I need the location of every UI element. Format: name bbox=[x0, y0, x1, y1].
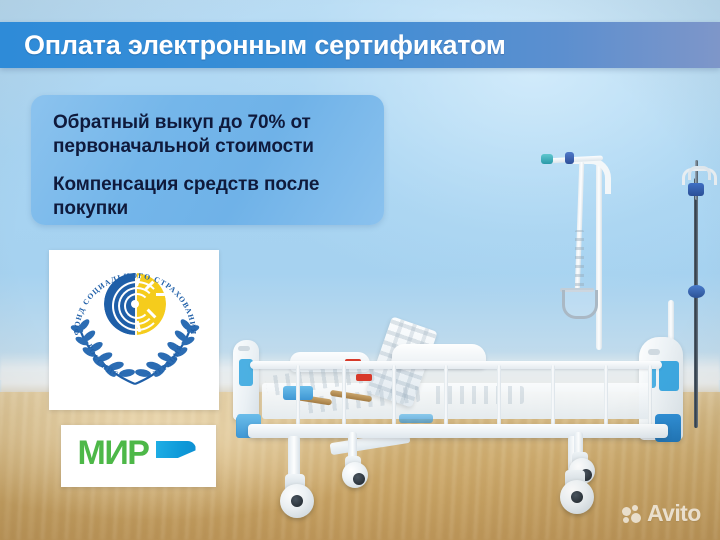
benefit-line-2: Компенсация средств после покупки bbox=[53, 173, 364, 221]
page-title: Оплата электронным сертификатом bbox=[0, 30, 506, 61]
mir-logo-text: МИP bbox=[78, 436, 149, 470]
fss-logo: ФОНД СОЦИАЛЬНОГО СТРАХОВАНИЯ РОССИЙСКАЯ … bbox=[49, 250, 219, 410]
mir-logo-swoosh-icon bbox=[156, 441, 196, 458]
svg-text:РОССИЙСКАЯ ФЕДЕРАЦИЯ: РОССИЙСКАЯ ФЕДЕРАЦИЯ bbox=[85, 343, 184, 374]
title-banner: Оплата электронным сертификатом bbox=[0, 22, 720, 68]
avito-watermark: Avito bbox=[622, 502, 701, 525]
avito-dots-icon bbox=[622, 505, 642, 523]
fss-ring-text-bottom: РОССИЙСКАЯ ФЕДЕРАЦИЯ bbox=[69, 264, 201, 374]
mir-logo: МИP bbox=[61, 425, 216, 487]
avito-wordmark: Avito bbox=[647, 502, 701, 525]
image-canvas: Оплата электронным сертификатом Обратный… bbox=[0, 0, 720, 540]
benefits-card: Обратный выкуп до 70% от первоначальной … bbox=[31, 95, 384, 225]
benefit-line-1: Обратный выкуп до 70% от первоначальной … bbox=[53, 111, 364, 159]
